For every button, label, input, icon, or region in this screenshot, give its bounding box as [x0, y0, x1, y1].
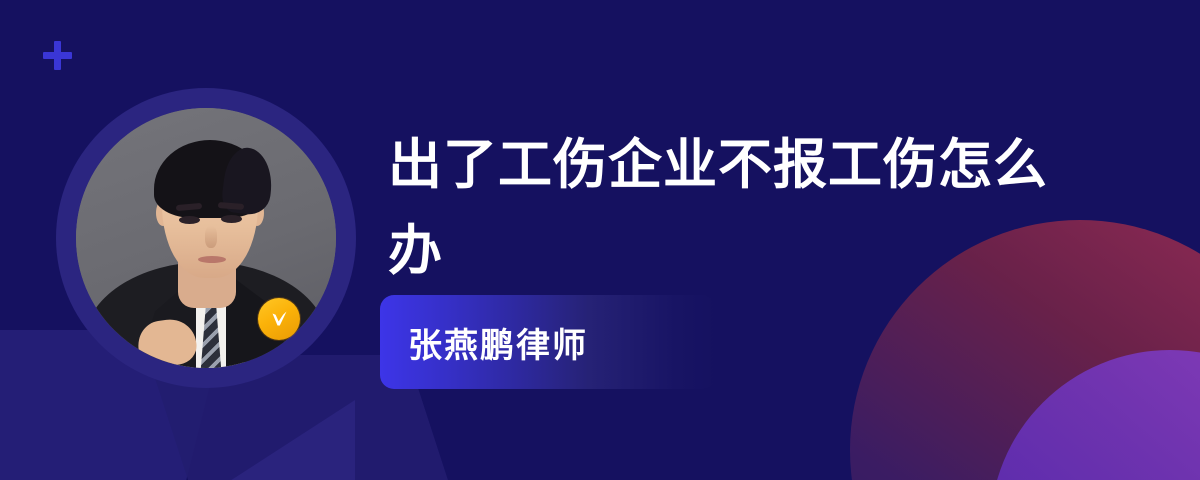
portrait-eye-right [221, 215, 242, 223]
lawyer-name-badge[interactable]: 张燕鹏律师 [380, 295, 716, 389]
portrait-eye-left [179, 216, 200, 224]
avatar [56, 88, 356, 388]
portrait-nose [205, 226, 217, 248]
plus-icon [43, 41, 72, 70]
page-title: 出了工伤企业不报工伤怎么办 [388, 122, 1088, 294]
verified-check-icon [258, 298, 300, 340]
portrait-mouth [198, 256, 226, 263]
banner-card: 出了工伤企业不报工伤怎么办 张燕鹏律师 [0, 0, 1200, 480]
lawyer-name-label: 张燕鹏律师 [380, 318, 588, 367]
